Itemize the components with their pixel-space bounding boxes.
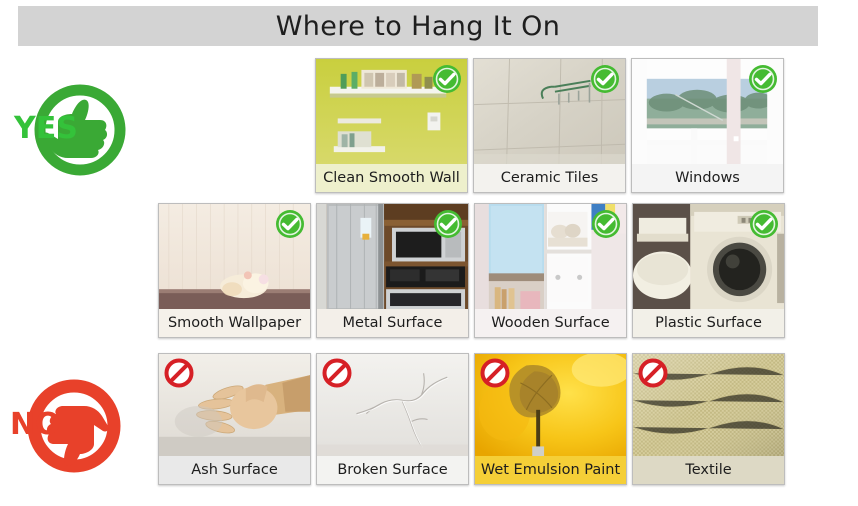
surface-tile-label: Wet Emulsion Paint (475, 456, 626, 484)
surface-tile[interactable]: Ceramic Tiles (473, 58, 626, 193)
approved-badge (748, 64, 778, 94)
check-circle-icon (749, 209, 779, 239)
surface-tile[interactable]: Wooden Surface (474, 203, 627, 338)
surface-tile[interactable]: Wet Emulsion Paint (474, 353, 627, 485)
surface-tile-label: Textile (633, 456, 784, 484)
surface-tile[interactable]: Smooth Wallpaper (158, 203, 311, 338)
surface-tile-label: Ceramic Tiles (474, 164, 625, 192)
approved-badge (275, 209, 305, 239)
surface-tile[interactable]: Textile (632, 353, 785, 485)
forbidden-badge (480, 358, 510, 388)
prohibition-icon (164, 358, 194, 388)
check-circle-icon (433, 209, 463, 239)
surface-tile-label: Broken Surface (317, 456, 468, 484)
thumbs-down-circle-icon: NO (2, 368, 152, 488)
page-header: Where to Hang It On (18, 6, 818, 46)
verdict-yes: YES YES (2, 70, 152, 190)
surface-tile[interactable]: Ash Surface (158, 353, 311, 485)
thumbs-up-circle-icon: YES (2, 70, 152, 190)
verdict-no-label: NO (10, 407, 61, 442)
prohibition-icon (638, 358, 668, 388)
surface-tile-label: Windows (632, 164, 783, 192)
check-circle-icon (591, 209, 621, 239)
surface-tile-label: Clean Smooth Wall (316, 164, 467, 192)
approved-badge (433, 209, 463, 239)
surface-tile-label: Smooth Wallpaper (159, 309, 310, 337)
surface-tile[interactable]: Clean Smooth Wall (315, 58, 468, 193)
verdict-yes-label: YES (13, 111, 78, 146)
approved-badge (591, 209, 621, 239)
surface-tile-label: Plastic Surface (633, 309, 784, 337)
surface-tile[interactable]: Plastic Surface (632, 203, 785, 338)
surface-tile[interactable]: Metal Surface (316, 203, 469, 338)
approved-badge (749, 209, 779, 239)
surface-tile-label: Metal Surface (317, 309, 468, 337)
surface-tile-label: Wooden Surface (475, 309, 626, 337)
approved-badge (432, 64, 462, 94)
verdict-no: NO NO (2, 368, 152, 488)
prohibition-icon (322, 358, 352, 388)
forbidden-badge (322, 358, 352, 388)
approved-badge (590, 64, 620, 94)
forbidden-badge (638, 358, 668, 388)
surface-tile-label: Ash Surface (159, 456, 310, 484)
forbidden-badge (164, 358, 194, 388)
check-circle-icon (748, 64, 778, 94)
check-circle-icon (590, 64, 620, 94)
page-title: Where to Hang It On (276, 11, 561, 42)
check-circle-icon (275, 209, 305, 239)
surface-tile[interactable]: Windows (631, 58, 784, 193)
prohibition-icon (480, 358, 510, 388)
check-circle-icon (432, 64, 462, 94)
surface-tile[interactable]: Broken Surface (316, 353, 469, 485)
